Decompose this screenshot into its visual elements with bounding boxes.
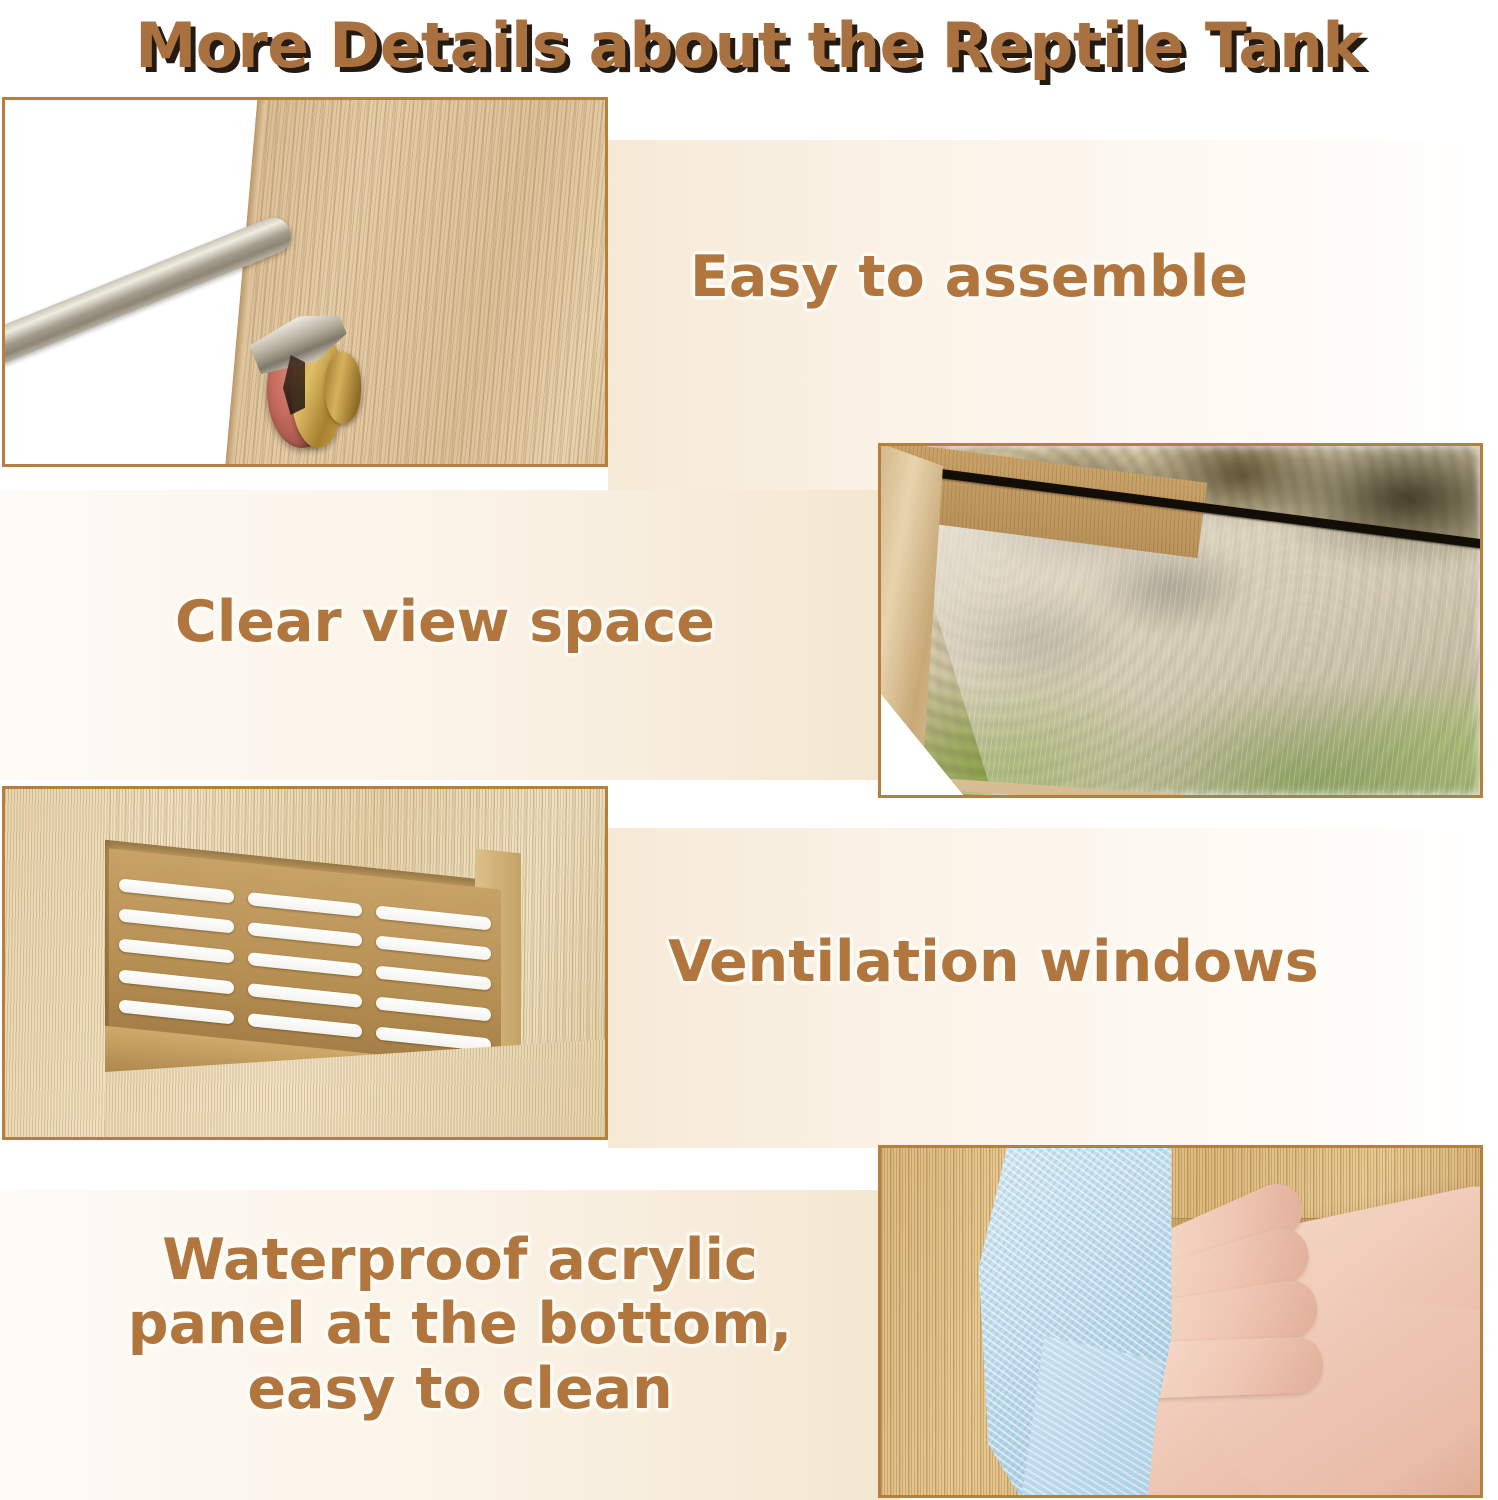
vent-slot bbox=[119, 939, 234, 964]
vent-slot bbox=[119, 879, 234, 904]
page-title-bar: More Details about the Reptile Tank bbox=[0, 0, 1498, 92]
caption-waterproof-acrylic: Waterproof acrylic panel at the bottom, … bbox=[90, 1228, 830, 1421]
caption-ventilation-windows: Ventilation windows bbox=[668, 930, 1319, 994]
wood-face-left-graphic bbox=[5, 789, 105, 1140]
photo-clear-view-space bbox=[878, 443, 1483, 798]
vent-slot-group bbox=[248, 875, 363, 1055]
product-detail-infographic: More Details about the Reptile Tank Easy… bbox=[0, 0, 1498, 1500]
vent-slot bbox=[376, 1026, 491, 1051]
caption-line: Waterproof acrylic bbox=[90, 1228, 830, 1292]
vent-slot bbox=[119, 909, 234, 934]
photo-easy-to-assemble bbox=[2, 97, 608, 467]
screw-boss-graphic bbox=[325, 352, 361, 424]
photo-ventilation-windows bbox=[2, 786, 608, 1140]
vent-slot bbox=[376, 906, 491, 931]
vent-slot bbox=[248, 892, 363, 917]
band-easy-to-assemble bbox=[608, 140, 1498, 490]
vent-slot bbox=[119, 969, 234, 994]
vent-slot bbox=[376, 966, 491, 991]
vent-slot-group bbox=[376, 888, 491, 1068]
page-title: More Details about the Reptile Tank bbox=[135, 15, 1363, 77]
caption-clear-view-space: Clear view space bbox=[175, 590, 715, 654]
photo-easy-to-clean bbox=[878, 1145, 1483, 1498]
vent-slot-group bbox=[119, 861, 234, 1041]
vent-slot bbox=[376, 936, 491, 961]
vent-slot bbox=[248, 922, 363, 947]
vent-slot bbox=[248, 952, 363, 977]
vent-slot bbox=[376, 996, 491, 1021]
vent-slot bbox=[248, 1013, 363, 1038]
vent-slot bbox=[248, 983, 363, 1008]
caption-line: easy to clean bbox=[90, 1357, 830, 1421]
caption-line: panel at the bottom, bbox=[90, 1292, 830, 1356]
caption-easy-to-assemble: Easy to assemble bbox=[690, 245, 1248, 309]
vent-slot bbox=[119, 999, 234, 1024]
